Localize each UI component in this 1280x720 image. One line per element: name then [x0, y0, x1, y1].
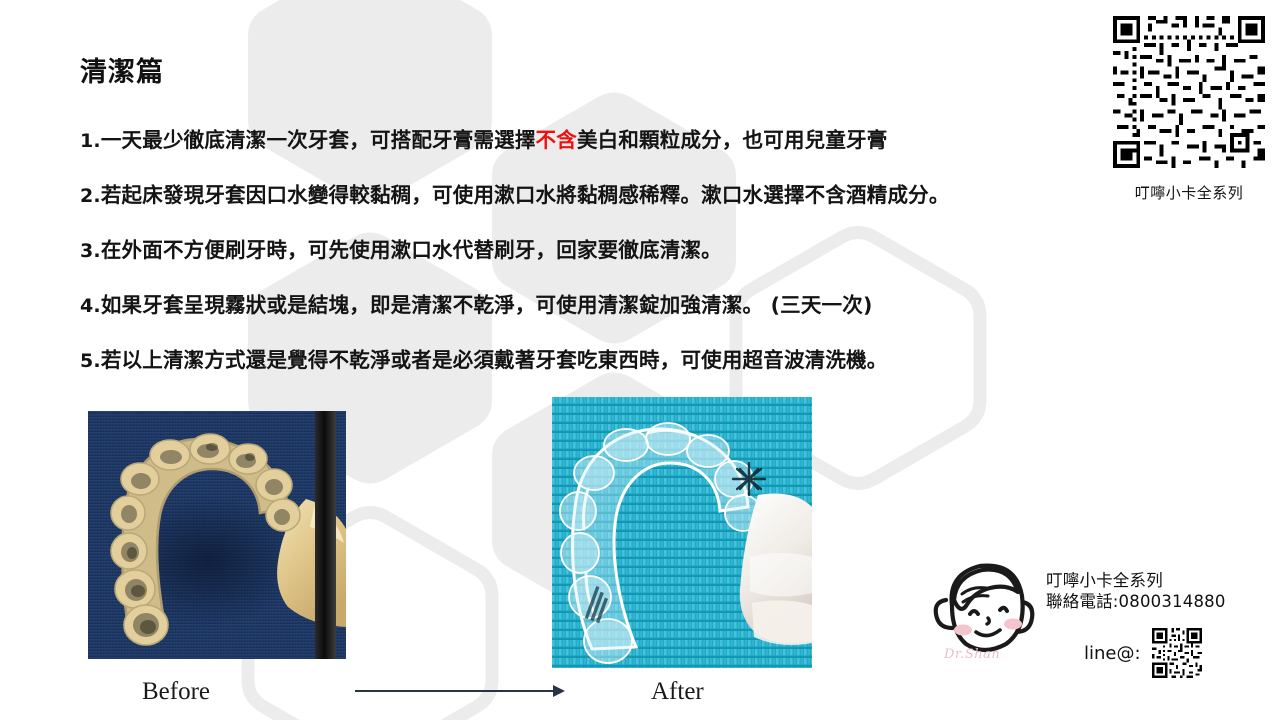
contact-info: 叮嚀小卡全系列 聯絡電話:0800314880 line@: — [1046, 548, 1226, 680]
list-item: 5.若以上清潔方式還是覺得不乾淨或者是必須戴著牙套吃東西時，可使用超音波清洗機。 — [80, 350, 1200, 371]
list-item-number: 4. — [80, 295, 101, 317]
caption-after: After — [651, 678, 704, 706]
list-item-highlight: 不含 — [536, 128, 577, 152]
list-item-text-a: 若以上清潔方式還是覺得不乾淨或者是必須戴著牙套吃東西時，可使用超音波清洗機。 — [101, 348, 888, 372]
qr-code-icon[interactable] — [1150, 626, 1204, 680]
list-item-text-a: 一天最少徹底清潔一次牙套，可搭配牙膏需選擇 — [101, 128, 536, 152]
list-item-text-a: 如果牙套呈現霧狀或是結塊，即是清潔不乾淨，可使用清潔錠加強清潔。 (三天一次) — [101, 293, 873, 317]
slide-canvas: 清潔篇 1.一天最少徹底清潔一次牙套，可搭配牙膏需選擇不含美白和顆粒成分，也可用… — [0, 0, 1280, 720]
mascot-icon: Dr.Shan — [930, 548, 1042, 668]
contact-phone-label: 聯絡電話:0800314880 — [1046, 591, 1226, 612]
page-title: 清潔篇 — [80, 50, 164, 89]
photo-after — [552, 397, 812, 668]
list-item-number: 3. — [80, 240, 101, 262]
list-item: 3.在外面不方便刷牙時，可先使用漱口水代替刷牙，回家要徹底清潔。 — [80, 240, 1200, 261]
qr-top-block[interactable]: 叮嚀小卡全系列 — [1109, 8, 1269, 203]
instruction-list: 1.一天最少徹底清潔一次牙套，可搭配牙膏需選擇不含美白和顆粒成分，也可用兒童牙膏… — [80, 130, 1200, 405]
mascot-signature: Dr.Shan — [944, 647, 1000, 662]
list-item-number: 2. — [80, 185, 101, 207]
list-item-text-a: 若起床發現牙套因口水變得較黏稠，可使用漱口水將黏稠感稀釋。漱口水選擇不含酒精成分… — [101, 183, 950, 207]
list-item-number: 1. — [80, 130, 101, 152]
contact-block: Dr.Shan 叮嚀小卡全系列 聯絡電話:0800314880 line@: — [930, 548, 1226, 680]
qr-top-caption: 叮嚀小卡全系列 — [1109, 182, 1269, 203]
list-item-text-b: 美白和顆粒成分，也可用兒童牙膏 — [577, 128, 888, 152]
qr-code-icon[interactable] — [1109, 8, 1269, 176]
list-item: 1.一天最少徹底清潔一次牙套，可搭配牙膏需選擇不含美白和顆粒成分，也可用兒童牙膏 — [80, 130, 1200, 151]
list-item: 4.如果牙套呈現霧狀或是結塊，即是清潔不乾淨，可使用清潔錠加強清潔。 (三天一次… — [80, 295, 1200, 316]
list-item-text-a: 在外面不方便刷牙時，可先使用漱口水代替刷牙，回家要徹底清潔。 — [101, 238, 722, 262]
arrow-right-icon — [355, 682, 565, 700]
list-item: 2.若起床發現牙套因口水變得較黏稠，可使用漱口水將黏稠感稀釋。漱口水選擇不含酒精… — [80, 185, 1200, 206]
caption-before: Before — [142, 678, 210, 706]
contact-series-label: 叮嚀小卡全系列 — [1046, 570, 1226, 591]
photo-before — [88, 411, 346, 659]
list-item-number: 5. — [80, 350, 101, 372]
line-at-label: line@: — [1084, 643, 1141, 664]
line-qr-row[interactable]: line@: — [1084, 626, 1226, 680]
